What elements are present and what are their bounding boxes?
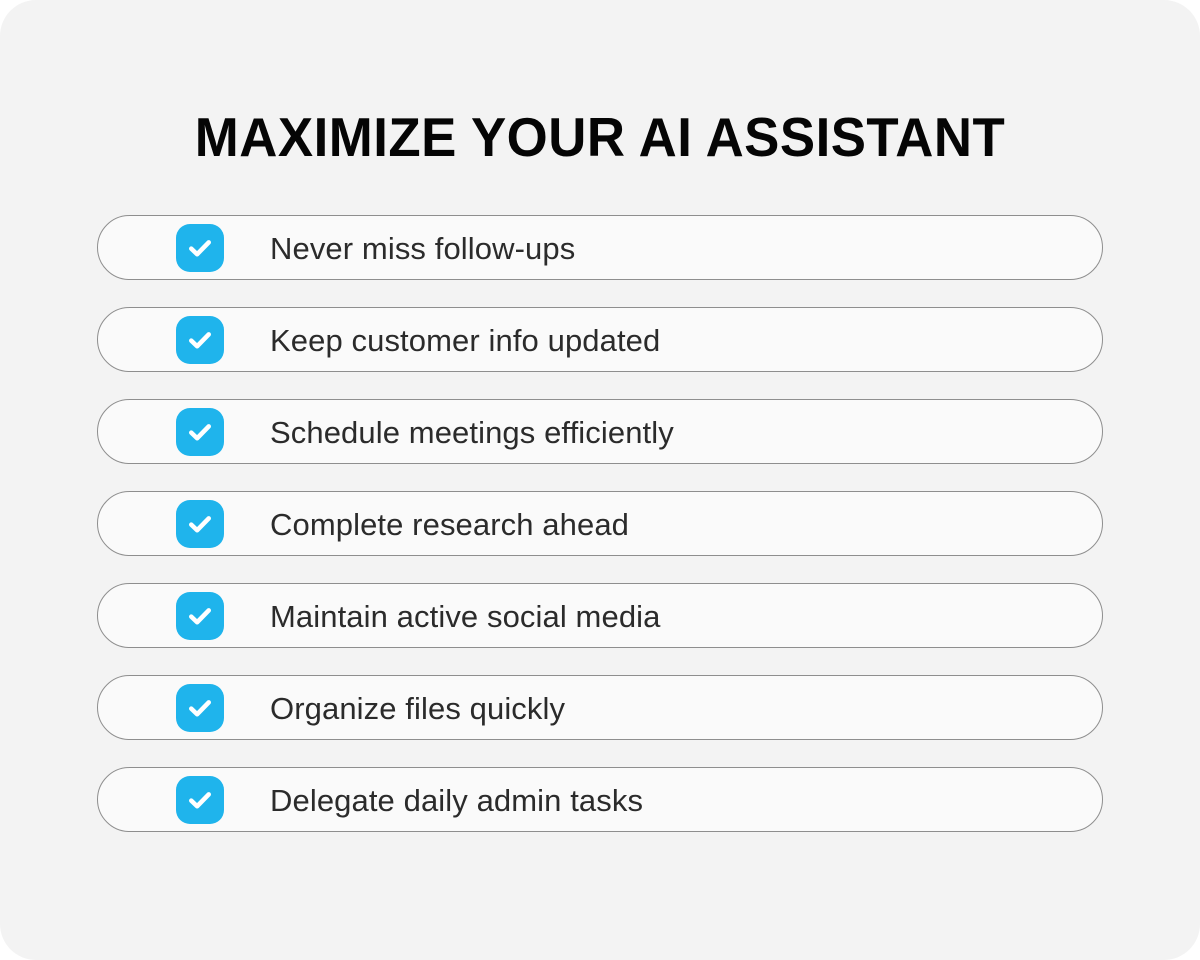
list-item-label: Delegate daily admin tasks bbox=[270, 768, 643, 833]
list-item-label: Never miss follow-ups bbox=[270, 216, 575, 281]
list-item[interactable]: Never miss follow-ups bbox=[97, 215, 1103, 280]
checkmark-icon bbox=[185, 417, 215, 447]
list-item[interactable]: Maintain active social media bbox=[97, 583, 1103, 648]
checkmark-icon bbox=[185, 785, 215, 815]
list-item-label: Organize files quickly bbox=[270, 676, 565, 741]
checkbox-checked[interactable] bbox=[176, 224, 224, 272]
list-item[interactable]: Organize files quickly bbox=[97, 675, 1103, 740]
checkbox-checked[interactable] bbox=[176, 684, 224, 732]
checkbox-checked[interactable] bbox=[176, 592, 224, 640]
list-item-label: Complete research ahead bbox=[270, 492, 629, 557]
list-item-label: Keep customer info updated bbox=[270, 308, 660, 373]
checkmark-icon bbox=[185, 601, 215, 631]
list-item[interactable]: Delegate daily admin tasks bbox=[97, 767, 1103, 832]
list-item[interactable]: Schedule meetings efficiently bbox=[97, 399, 1103, 464]
list-item-label: Schedule meetings efficiently bbox=[270, 400, 674, 465]
checkmark-icon bbox=[185, 325, 215, 355]
checklist-card: MAXIMIZE YOUR AI ASSISTANT Never miss fo… bbox=[0, 0, 1200, 960]
checkbox-checked[interactable] bbox=[176, 408, 224, 456]
checkmark-icon bbox=[185, 693, 215, 723]
list-item-label: Maintain active social media bbox=[270, 584, 660, 649]
checklist: Never miss follow-ups Keep customer info… bbox=[97, 215, 1103, 832]
checkmark-icon bbox=[185, 509, 215, 539]
checkbox-checked[interactable] bbox=[176, 500, 224, 548]
list-item[interactable]: Keep customer info updated bbox=[97, 307, 1103, 372]
checkmark-icon bbox=[185, 233, 215, 263]
checkbox-checked[interactable] bbox=[176, 776, 224, 824]
page-title: MAXIMIZE YOUR AI ASSISTANT bbox=[24, 106, 1176, 168]
checkbox-checked[interactable] bbox=[176, 316, 224, 364]
list-item[interactable]: Complete research ahead bbox=[97, 491, 1103, 556]
